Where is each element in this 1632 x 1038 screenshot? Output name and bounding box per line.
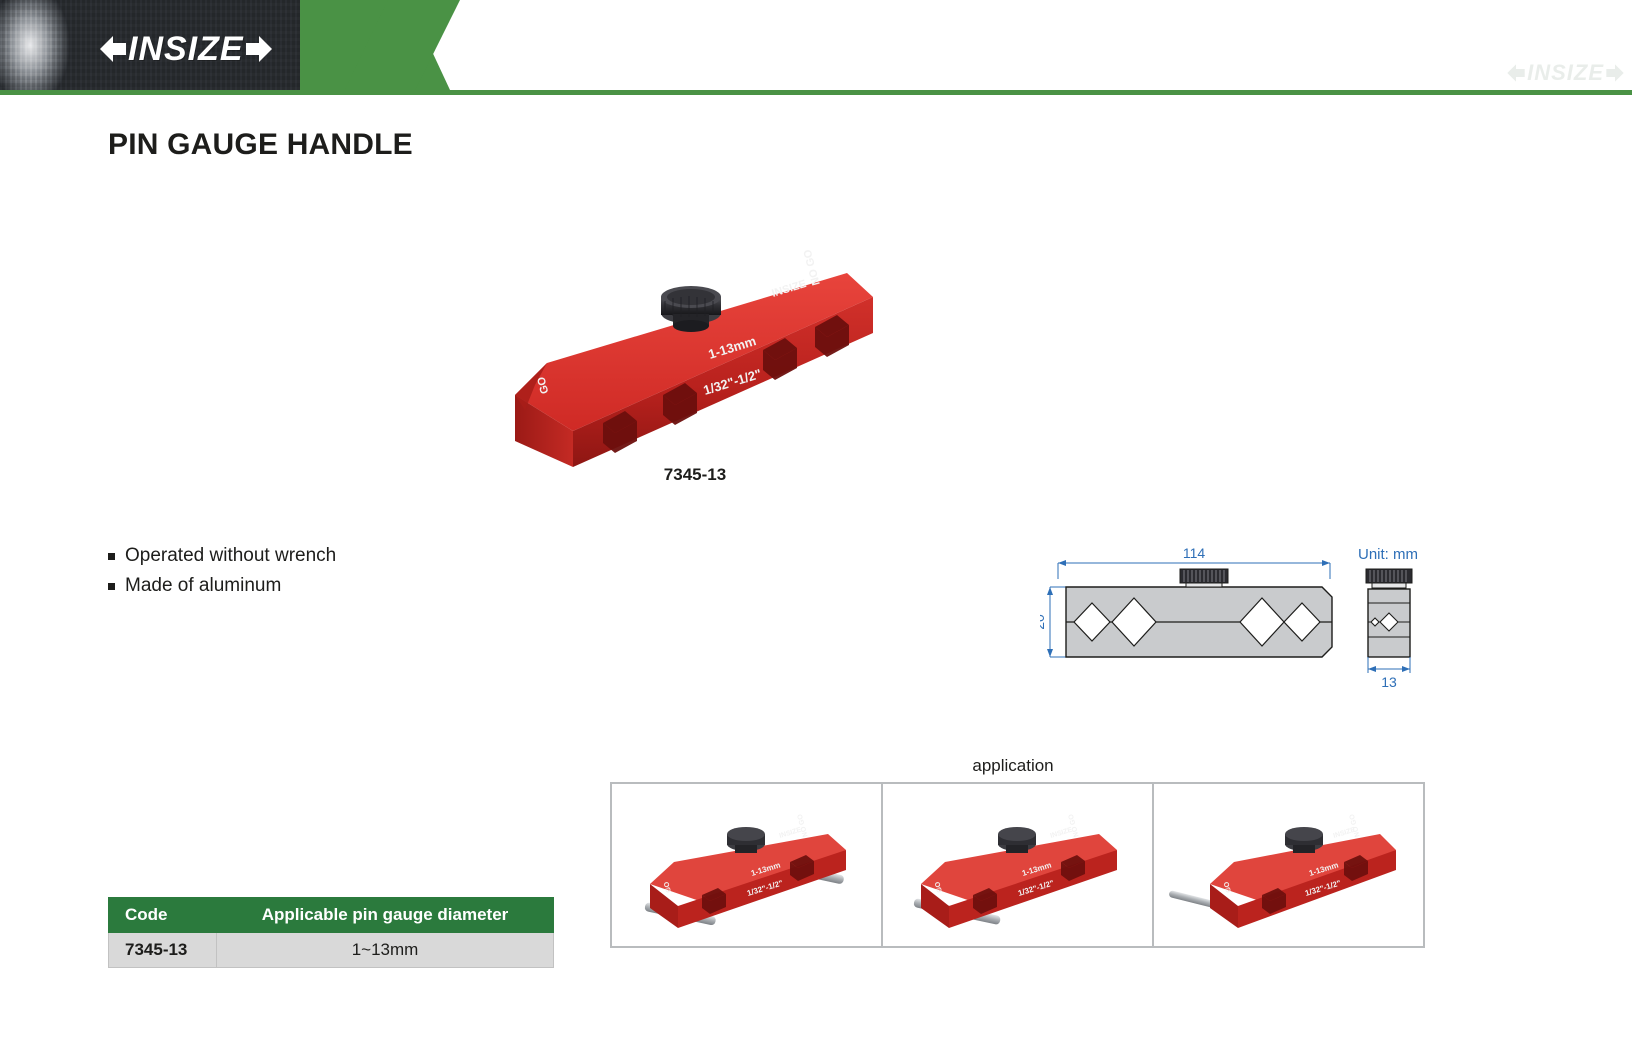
application-panel: 1-13mm 1/32"-1/2" NO GO GO INSIZE: [881, 784, 1152, 946]
bullet-square-icon: [108, 583, 115, 590]
svg-text:INSIZE: INSIZE: [1332, 827, 1356, 840]
application-panel: 1-13mm 1/32"-1/2" NO GO GO INSIZE: [612, 784, 881, 946]
watermark-right-arrow-icon: [1606, 63, 1624, 83]
page-header: INSIZE INSIZE: [0, 0, 1632, 95]
features-list: Operated without wrench Made of aluminum: [108, 544, 528, 604]
specification-table: Code Applicable pin gauge diameter 7345-…: [108, 897, 554, 968]
application-label: application: [918, 756, 1108, 776]
application-panel: 1-13mm 1/32"-1/2" NO GO GO INSIZE: [1152, 784, 1423, 946]
watermark-left-arrow-icon: [1507, 63, 1525, 83]
dimension-height: 20: [1040, 614, 1047, 630]
feature-item: Operated without wrench: [108, 544, 528, 568]
table-header-diameter: Applicable pin gauge diameter: [217, 898, 554, 933]
svg-text:INSIZE: INSIZE: [778, 827, 802, 840]
feature-label: Made of aluminum: [125, 574, 281, 598]
dimension-length: 114: [1183, 545, 1206, 561]
table-cell-code: 7345-13: [109, 933, 217, 968]
table-header-code: Code: [109, 898, 217, 933]
table-row: 7345-13 1~13mm: [109, 933, 554, 968]
bullet-square-icon: [108, 553, 115, 560]
header-green-rule: [0, 90, 1632, 95]
feature-label: Operated without wrench: [125, 544, 336, 568]
svg-text:INSIZE: INSIZE: [1049, 827, 1073, 840]
page-title: PIN GAUGE HANDLE: [108, 128, 413, 162]
logo-left-arrow-icon: [100, 34, 126, 64]
dimension-width: 13: [1381, 674, 1397, 690]
insize-watermark-logo: INSIZE: [1507, 60, 1624, 86]
technical-drawing: 114 20: [1040, 545, 1460, 695]
table-cell-diameter: 1~13mm: [217, 933, 554, 968]
table-header-row: Code Applicable pin gauge diameter: [109, 898, 554, 933]
logo-wordmark: INSIZE: [126, 32, 246, 66]
product-photo: 1-13mm 1/32"-1/2" INSIZE NO GO GO: [495, 235, 895, 495]
product-code-caption: 7345-13: [495, 465, 895, 485]
feature-item: Made of aluminum: [108, 574, 528, 598]
insize-logo: INSIZE: [100, 30, 272, 68]
logo-right-arrow-icon: [246, 34, 272, 64]
watermark-wordmark: INSIZE: [1525, 56, 1606, 90]
application-image-strip: 1-13mm 1/32"-1/2" NO GO GO INSIZE: [610, 782, 1425, 948]
